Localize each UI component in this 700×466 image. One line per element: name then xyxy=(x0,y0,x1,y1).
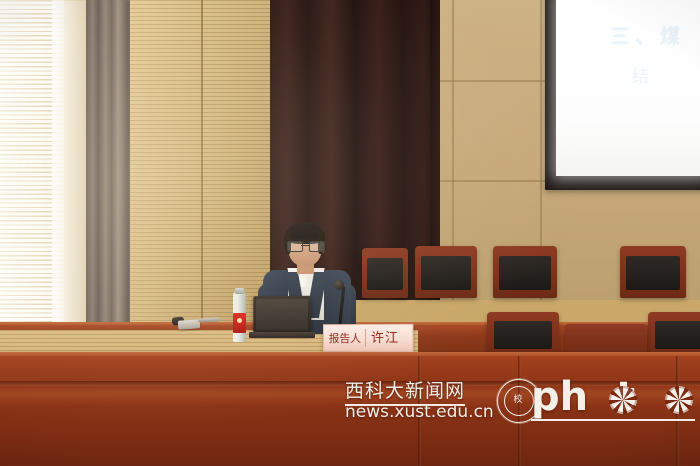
nameplate-role-label: 报告人 xyxy=(324,333,365,344)
watermark-site-url: news.xust.edu.cn xyxy=(345,402,494,422)
water-bottle-cap xyxy=(235,288,244,294)
laptop-base xyxy=(249,332,315,338)
chair-back-0 xyxy=(362,248,408,298)
aperture-o-icon-1 xyxy=(609,386,637,414)
eyeglass-lens-right xyxy=(309,241,325,252)
slide-text-line-2: 结 xyxy=(632,62,700,87)
gooseneck-microphone-head xyxy=(334,280,344,290)
chair-mid-1 xyxy=(487,312,559,356)
chair-pad xyxy=(494,321,552,349)
chair-back-3 xyxy=(620,246,686,298)
chair-back-1 xyxy=(415,246,477,298)
slide-text-line-1: 三、煤 xyxy=(610,20,700,49)
eyeglass-lens-left xyxy=(287,241,303,252)
watermark-brand-word: ph t xyxy=(531,374,663,420)
chair-pad xyxy=(499,256,551,290)
chair-pad xyxy=(626,256,680,290)
eyeglasses-icon xyxy=(287,241,323,250)
chair-pad xyxy=(367,258,403,290)
wall-panel-seam xyxy=(201,0,203,372)
news-site-watermark: 西科大新闻网 news.xust.edu.cn 校 ph t xyxy=(345,376,695,424)
chair-back-2 xyxy=(493,246,557,298)
photo-scene: 三、煤 结 xyxy=(0,0,700,466)
speaker-nameplate: 报告人 许江 xyxy=(323,324,414,352)
chair-mid-2 xyxy=(648,312,700,356)
aperture-o-icon-2 xyxy=(665,386,693,414)
table-microphone-body xyxy=(178,319,201,330)
wall-seam-horizontal-2 xyxy=(440,80,552,82)
chair-pad xyxy=(421,256,471,290)
watermark-underline xyxy=(531,419,695,421)
university-seal-glyph: 校 xyxy=(512,394,524,406)
water-bottle-label xyxy=(233,313,246,333)
water-bottle-label-mark xyxy=(237,318,242,323)
nameplate-speaker-name: 许江 xyxy=(366,331,412,344)
chair-pad xyxy=(655,321,700,349)
eyeglass-bridge xyxy=(301,245,309,246)
laptop-screen xyxy=(256,299,308,330)
